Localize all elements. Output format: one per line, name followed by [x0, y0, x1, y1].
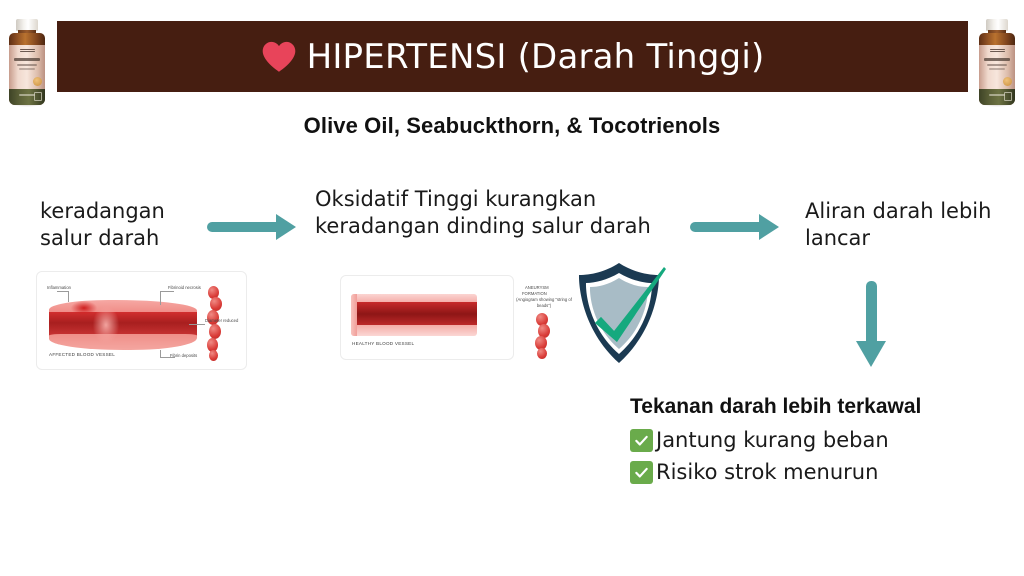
arrow-right-icon-1 [207, 214, 296, 240]
figure-caption-healthy: HEALTHY BLOOD VESSEL [352, 341, 414, 346]
affected-vessel-illustration [49, 300, 197, 350]
figure-label-inflammation: Inflammation [47, 285, 71, 291]
bead-chain-illustration [534, 313, 552, 359]
bottle-sub-line-1 [987, 64, 1007, 66]
shield-check-icon [567, 259, 672, 367]
arrow-right-icon-2 [690, 214, 779, 240]
flow-step-3-label: Aliran darah lebih lancar [805, 198, 995, 253]
bottle-label [9, 45, 45, 89]
affected-blood-vessel-diagram: Inflammation Fibrinoid necrosis Diameter… [36, 271, 247, 370]
bottle-seal-badge [33, 77, 42, 86]
list-item-label: Risiko strok menurun [656, 460, 878, 484]
aneurysm-title: ANEURYSM [525, 285, 549, 291]
bottle-body [9, 33, 45, 105]
list-item: Risiko strok menurun [630, 460, 889, 484]
flow-step-1-label: keradangan salur darah [40, 198, 220, 253]
figure-label-diameter-reduced: Diameter reduced [205, 318, 245, 324]
figure-caption-affected: AFFECTED BLOOD VESSEL [49, 352, 115, 357]
subtitle: Olive Oil, Seabuckthorn, & Tocotrienols [0, 113, 1024, 139]
flow-step-2-label: Oksidatif Tinggi kurangkan keradangan di… [315, 186, 660, 241]
figure-label-fibrin-deposits: Fibrin deposits [170, 353, 197, 359]
figure-label-fibrinoid-necrosis: Fibrinoid necrosis [168, 285, 201, 291]
check-icon [630, 461, 653, 484]
aneurysm-subtitle: FORMATION [522, 291, 547, 297]
aneurysm-note: (Angiogram showing "string of beads") [516, 297, 572, 308]
bottle-brand-mark [14, 49, 40, 55]
olive-guard-bottle-left [7, 19, 47, 105]
bottle-brand-mark [984, 49, 1010, 55]
page-title: HIPERTENSI (Darah Tinggi) [307, 37, 765, 77]
check-icon [630, 429, 653, 452]
bottle-bottom-band [979, 89, 1015, 105]
bottle-product-name [984, 58, 1010, 61]
healthy-blood-vessel-diagram: HEALTHY BLOOD VESSEL [340, 275, 514, 360]
list-item: Jantung kurang beban [630, 428, 889, 452]
header-banner: HIPERTENSI (Darah Tinggi) [57, 21, 968, 92]
bottle-product-name [14, 58, 40, 61]
slide-canvas: HIPERTENSI (Darah Tinggi) Oli [0, 0, 1024, 576]
heart-icon [261, 40, 297, 73]
bottle-body [979, 33, 1015, 105]
arrow-down-icon [856, 281, 886, 367]
bottle-sub-line-1 [17, 64, 37, 66]
bead-chain-illustration [205, 286, 223, 362]
aneurysm-formation-diagram: ANEURYSM FORMATION (Angiogram showing "s… [514, 275, 574, 360]
healthy-vessel-illustration [351, 294, 477, 336]
bottle-sub-line-2 [989, 68, 1005, 70]
bottle-label [979, 45, 1015, 89]
bottle-sub-line-2 [19, 68, 35, 70]
olive-guard-bottle-right [977, 19, 1017, 105]
bottle-bottom-band [9, 89, 45, 105]
bottle-seal-badge [1003, 77, 1012, 86]
conclusion-title: Tekanan darah lebih terkawal [630, 395, 921, 419]
list-item-label: Jantung kurang beban [656, 428, 889, 452]
conclusion-list: Jantung kurang beban Risiko strok menuru… [630, 428, 889, 492]
